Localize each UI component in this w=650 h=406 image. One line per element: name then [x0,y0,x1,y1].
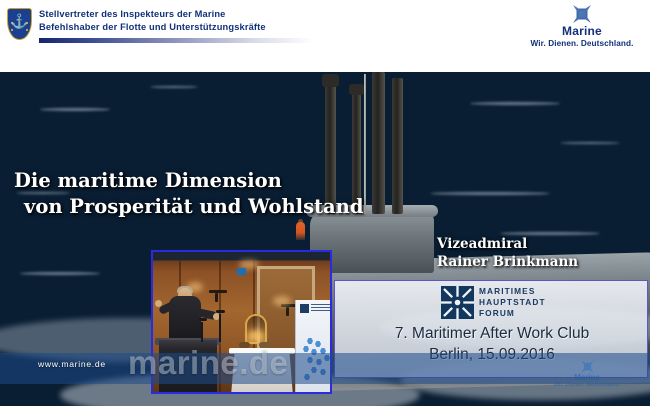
mhf-logo-text: MARITIMES HAUPTSTADT FORUM [479,286,546,319]
microphone-head [216,310,225,313]
speaker-block: Vizeadmiral Rainer Brinkmann [437,235,647,271]
event-title: 7. Maritimer After Work Club [335,323,649,344]
submarine-mast-cap [322,74,339,87]
anchor-glyph: ⚓ [11,14,28,28]
title-line-2: von Prosperität und Wohlstand [14,194,414,220]
marine-brand-logo: Marine Wir. Dienen. Deutschland. [522,4,642,49]
iron-cross-icon [572,4,592,24]
wave-streak [560,142,620,144]
slide-title: Die maritime Dimension von Prosperität u… [14,168,414,220]
crew-member [296,222,305,240]
wave-streak [20,272,100,275]
mhf-line-3: FORUM [479,308,546,319]
wall-sconce [209,290,227,293]
footer-brand-claim: Wir. Dienen. Deutschland. [546,382,628,389]
banner-logo-icon [300,304,309,313]
ceiling-fixture [237,268,246,275]
footer-brand-name: Marine [546,373,628,382]
hexagon [307,338,313,344]
wall-sconce-arm [286,307,289,316]
header-gradient-rule [39,38,314,43]
lamp-glow [248,330,264,342]
background-photo-submarine-at-sea: Die maritime Dimension von Prosperität u… [0,72,650,406]
brand-claim: Wir. Dienen. Deutschland. [522,39,642,49]
speaker-rank: Vizeadmiral [437,235,647,253]
submarine-mast-cap [349,84,364,95]
light-glow [273,296,291,306]
wave-streak [40,108,110,111]
hexagon [303,346,309,352]
microphone-head [199,318,207,321]
title-line-1: Die maritime Dimension [14,168,414,194]
mhf-logo: MARITIMES HAUPTSTADT FORUM [441,285,561,321]
microphone-stand [201,322,203,342]
naval-shield-anchor-icon: ⚓ [7,8,32,40]
iron-cross-icon [581,360,594,373]
speaker-name: Rainer Brinkmann [437,253,647,271]
banner-text-lines [311,304,331,312]
maritimes-hauptstadt-forum-icon [441,286,474,319]
header-line-2: Befehlshaber der Flotte und Unterstützun… [39,21,266,34]
hexagon [315,341,321,347]
footer-watermark: marine.de [128,344,288,382]
wall-sconce-arm [215,293,218,302]
slide-header: ⚓ Stellvertreter des Inspekteurs der Mar… [0,0,650,72]
footer-marine-logo: Marine Wir. Dienen. Deutschland. [546,360,628,389]
wave-streak [430,192,550,195]
wave-streak [470,102,560,105]
microphone-stand [219,314,221,342]
mhf-line-1: MARITIMES [479,286,546,297]
header-titles: Stellvertreter des Inspekteurs der Marin… [39,8,266,33]
mhf-line-2: HAUPTSTADT [479,297,546,308]
speaker-hand-left [155,300,162,307]
presentation-slide: ⚓ Stellvertreter des Inspekteurs der Mar… [0,0,650,406]
wave-streak [150,86,198,88]
header-line-1: Stellvertreter des Inspekteurs der Marin… [39,8,266,21]
footer-url[interactable]: www.marine.de [38,359,106,369]
brand-name: Marine [522,25,642,38]
